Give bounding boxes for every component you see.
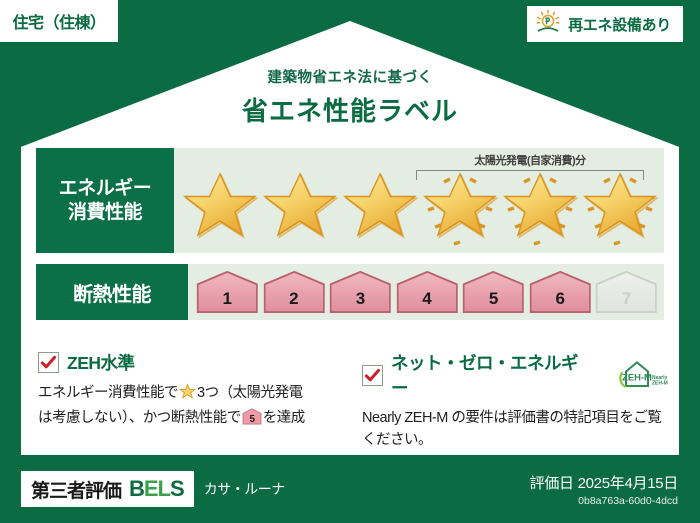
insulation-grade-inline-icon: 5 bbox=[242, 408, 262, 432]
star-6 bbox=[580, 148, 660, 251]
insulation-grade-number: 2 bbox=[289, 289, 298, 314]
insulation-performance-body: 1 2 3 4 5 6 bbox=[188, 264, 664, 320]
category-tag-label: 住宅（住棟） bbox=[12, 9, 105, 33]
zeh-standard-body: エネルギー消費性能で3つ（太陽光発電 は考慮しない）、かつ断熱性能で5を達成 bbox=[38, 382, 346, 433]
header: 建築物省エネ法に基づく 省エネ性能ラベル bbox=[0, 66, 700, 128]
bels-badge: 第三者評価 BELS bbox=[21, 471, 194, 507]
evaluation-id: 0b8a763a-60d0-4dcd bbox=[530, 495, 678, 507]
insulation-grade-number: 6 bbox=[555, 289, 564, 314]
zeh-standard-block: ZEH水準 エネルギー消費性能で3つ（太陽光発電 は考慮しない）、かつ断熱性能で… bbox=[38, 350, 346, 452]
insulation-grade-2: 2 bbox=[263, 270, 326, 314]
star-1 bbox=[180, 148, 260, 251]
svg-text:ZEH-M: ZEH-M bbox=[652, 380, 668, 386]
label-frame: 住宅（住棟） 再エネ設備あり 建築物省エネ法に基づく bbox=[0, 0, 700, 523]
footer-meta: 評価日 2025年4月15日 0b8a763a-60d0-4dcd bbox=[530, 472, 678, 507]
footer: 第三者評価 BELS カサ・ルーナ 評価日 2025年4月15日 0b8a763… bbox=[0, 455, 700, 523]
insulation-grade-number: 7 bbox=[622, 289, 631, 314]
star-5 bbox=[500, 148, 580, 251]
solar-sun-icon bbox=[535, 9, 561, 40]
net-zero-energy-title: ネット・ゼロ・エネルギー bbox=[391, 350, 584, 400]
zeh-standard-header: ZEH水準 bbox=[38, 350, 346, 375]
zeh-m-logo: ZEH-M Nearly ZEH-M bbox=[596, 359, 670, 391]
insulation-grade-6: 6 bbox=[529, 270, 592, 314]
insulation-performance-label: 断熱性能 bbox=[36, 264, 188, 320]
insulation-grade-scale: 1 2 3 4 5 6 bbox=[188, 264, 664, 320]
insulation-grade-number: 3 bbox=[356, 289, 365, 314]
bels-wordmark: BELS bbox=[129, 476, 184, 502]
energy-performance-label: エネルギー 消費性能 bbox=[36, 148, 174, 253]
building-name: カサ・ルーナ bbox=[204, 479, 285, 499]
renewable-energy-badge: 再エネ設備あり bbox=[527, 6, 683, 42]
insulation-grade-4: 4 bbox=[396, 270, 459, 314]
star-3 bbox=[340, 148, 420, 251]
insulation-grade-1: 1 bbox=[196, 270, 259, 314]
insulation-grade-number: 4 bbox=[422, 289, 431, 314]
insulation-grade-7: 7 bbox=[595, 270, 658, 314]
star-2 bbox=[260, 148, 340, 251]
checkbox-checked-icon bbox=[362, 365, 383, 386]
insulation-grade-3: 3 bbox=[329, 270, 392, 314]
energy-performance-row: エネルギー 消費性能 太陽光発電(自家消費)分 bbox=[36, 148, 664, 253]
insulation-performance-row: 断熱性能 1 2 3 4 bbox=[36, 264, 664, 320]
header-subtitle: 建築物省エネ法に基づく bbox=[0, 66, 700, 87]
insulation-grade-5: 5 bbox=[462, 270, 525, 314]
net-zero-energy-body: Nearly ZEH-M の要件は評価書の特記項目をご覧ください。 bbox=[362, 407, 670, 452]
insulation-grade-number: 1 bbox=[223, 289, 232, 314]
star-icon bbox=[179, 383, 196, 407]
zeh-standard-title: ZEH水準 bbox=[67, 350, 135, 375]
svg-text:ZEH-M: ZEH-M bbox=[622, 372, 652, 383]
info-columns: ZEH水準 エネルギー消費性能で3つ（太陽光発電 は考慮しない）、かつ断熱性能で… bbox=[38, 350, 670, 452]
page-title: 省エネ性能ラベル bbox=[0, 91, 700, 128]
star-4 bbox=[420, 148, 500, 251]
category-tag: 住宅（住棟） bbox=[0, 0, 118, 42]
evaluation-date: 評価日 2025年4月15日 bbox=[530, 472, 678, 493]
energy-performance-body: 太陽光発電(自家消費)分 bbox=[174, 148, 664, 253]
star-rating bbox=[174, 148, 664, 253]
checkbox-checked-icon bbox=[38, 352, 59, 373]
insulation-grade-number: 5 bbox=[489, 289, 498, 314]
net-zero-energy-block: ネット・ゼロ・エネルギー ZEH-M Nearly ZEH-M Nearly Z… bbox=[362, 350, 670, 452]
renewable-energy-badge-label: 再エネ設備あり bbox=[568, 14, 671, 35]
third-party-eval-label: 第三者評価 bbox=[31, 476, 121, 503]
net-zero-energy-header: ネット・ゼロ・エネルギー ZEH-M Nearly ZEH-M bbox=[362, 350, 670, 400]
